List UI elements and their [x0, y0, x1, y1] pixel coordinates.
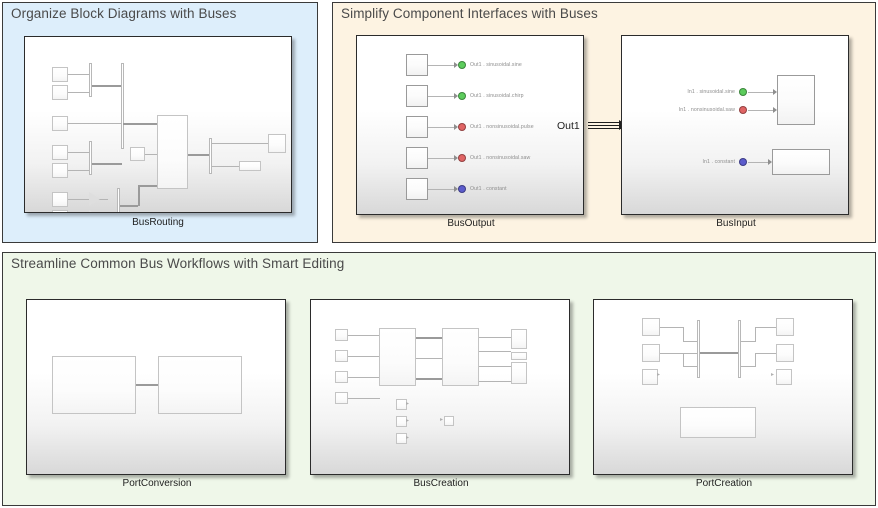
signal-port-dot-green: [458, 61, 466, 69]
signal-wire: [212, 143, 270, 144]
signal-wire: [212, 166, 240, 167]
signal-wire: [683, 366, 698, 367]
model-caption-busrouting: BusRouting: [24, 217, 292, 228]
signal-wire: [428, 158, 455, 159]
bus-selector-bar: [121, 63, 124, 149]
signal-wire: [348, 335, 380, 336]
panel-simplify-title: Simplify Component Interfaces with Buses: [341, 6, 598, 21]
signal-wire: [748, 110, 775, 111]
signal-wire: [416, 358, 443, 359]
source-subsystem-block: [52, 356, 136, 414]
signal-port-dot-red: [739, 106, 747, 114]
signal-wire: [479, 351, 511, 352]
signal-wire: [479, 337, 511, 338]
source-block: [52, 116, 68, 131]
sink-block: [776, 318, 794, 336]
signal-wire: [741, 366, 756, 367]
loose-port-block: [776, 369, 792, 385]
output-port-block: [511, 362, 527, 384]
model-caption-portconversion: PortConversion: [26, 478, 288, 489]
signal-wire: [479, 381, 511, 382]
source-block: [52, 145, 68, 160]
signal-wire: [741, 341, 756, 342]
signal-port-dot-blue: [458, 185, 466, 193]
signal-label: Out1 . sinusoidal.chirp: [470, 93, 524, 99]
sink-block: [268, 134, 286, 153]
signal-wire: [68, 199, 108, 200]
signal-wire: [68, 74, 90, 75]
source-block: [406, 85, 428, 107]
model-card-busoutput[interactable]: Out1 . sinusoidal.sine Out1 . sinusoidal…: [356, 35, 586, 230]
bus-creator-bar: [89, 141, 92, 175]
helper-block: [130, 147, 145, 161]
signal-wire-vertical: [755, 327, 756, 342]
signal-label: Out1 . sinusoidal.sine: [470, 62, 522, 68]
input-port-block: [335, 350, 348, 362]
port-caret-icon: ▸: [406, 401, 409, 407]
output-port-block: [511, 352, 527, 360]
signal-wire: [428, 127, 455, 128]
signal-wire: [748, 162, 770, 163]
gain-block: [89, 192, 100, 206]
sink-block: [239, 161, 261, 171]
signal-wire: [68, 152, 90, 153]
bus-creator-bar: [697, 320, 700, 378]
model-card-busrouting[interactable]: BusRouting: [24, 36, 292, 228]
sink-subsystem-block: [158, 356, 242, 414]
model-caption-buscreation: BusCreation: [310, 478, 572, 489]
bus-creator-bar: [89, 63, 92, 97]
signal-wire: [68, 92, 90, 93]
signal-port-dot-green: [458, 92, 466, 100]
port-caret-icon: ▸: [657, 372, 660, 378]
gain-block: [89, 210, 100, 213]
signal-wire: [348, 377, 380, 378]
bus-line: [700, 352, 739, 354]
signal-port-dot-blue: [739, 158, 747, 166]
bus-line: [188, 154, 210, 156]
bus-line-vertical: [138, 186, 140, 206]
model-canvas-businput[interactable]: In1 . sinusoidal.sine In1 . nonsinusoida…: [621, 35, 849, 215]
model-canvas-busrouting[interactable]: [24, 36, 292, 213]
source-block: [52, 192, 68, 207]
signal-wire: [479, 366, 511, 367]
bus-line: [416, 337, 443, 339]
simulink-bus-overview-page: Organize Block Diagrams with Buses: [0, 0, 878, 508]
source-block: [406, 116, 428, 138]
panel-streamline-title: Streamline Common Bus Workflows with Sma…: [11, 256, 344, 271]
subsystem-block: [379, 328, 416, 386]
bus-line: [92, 163, 122, 165]
model-caption-businput: BusInput: [621, 218, 851, 229]
input-port-block: [335, 392, 348, 404]
source-block: [406, 54, 428, 76]
model-canvas-portconversion[interactable]: [26, 299, 286, 475]
panel-organize-title: Organize Block Diagrams with Buses: [11, 6, 236, 21]
signal-wire: [68, 123, 122, 124]
bus-connector-line: [588, 125, 622, 126]
bus-line: [136, 384, 159, 386]
source-block: [642, 344, 660, 362]
signal-label: Out1 . nonsinusoidal.saw: [470, 155, 530, 161]
panel-organize-block-diagrams: Organize Block Diagrams with Buses: [2, 2, 318, 243]
bus-line: [138, 185, 158, 187]
input-port-block: [335, 371, 348, 383]
subsystem-block: [157, 115, 188, 189]
bus-creator-bar: [117, 188, 120, 213]
model-card-businput[interactable]: In1 . sinusoidal.sine In1 . nonsinusoida…: [621, 35, 851, 230]
signal-wire: [348, 398, 380, 399]
port-caret-icon: ▸: [406, 418, 409, 424]
signal-wire: [428, 96, 455, 97]
signal-port-dot-red: [458, 123, 466, 131]
source-block: [642, 318, 660, 336]
signal-label: Out1 . nonsinusoidal.pulse: [470, 124, 534, 130]
signal-wire: [428, 65, 455, 66]
source-block: [52, 163, 68, 178]
model-caption-portcreation: PortCreation: [593, 478, 855, 489]
port-caret-icon: ▸: [406, 435, 409, 441]
signal-label: In1 . sinusoidal.sine: [650, 89, 735, 95]
model-card-portcreation[interactable]: ▸: [593, 299, 855, 489]
loose-port-block: [444, 416, 454, 426]
port-caret-icon: ▸: [771, 372, 774, 378]
signal-wire: [683, 341, 698, 342]
model-card-portconversion[interactable]: PortConversion: [26, 299, 288, 489]
signal-wire: [748, 92, 775, 93]
port-caret-icon: ▸: [440, 417, 443, 423]
sink-block: [776, 344, 794, 362]
source-block: [52, 67, 68, 82]
signal-wire: [348, 356, 380, 357]
sink-block: [777, 75, 815, 125]
signal-wire-vertical: [683, 353, 684, 367]
loose-port-block: [642, 369, 658, 385]
signal-wire-vertical: [683, 327, 684, 342]
out-port-label: Out1: [557, 120, 580, 132]
model-canvas-busoutput[interactable]: Out1 . sinusoidal.sine Out1 . sinusoidal…: [356, 35, 584, 215]
source-block: [52, 85, 68, 100]
bus-selector-bar: [738, 320, 741, 378]
panel-simplify-component-interfaces: Simplify Component Interfaces with Buses…: [332, 2, 876, 243]
model-canvas-portcreation[interactable]: ▸: [593, 299, 853, 475]
source-block: [406, 178, 428, 200]
bus-line: [120, 205, 138, 207]
signal-wire: [660, 327, 684, 328]
signal-wire: [755, 353, 778, 354]
bus-connector-line: [588, 122, 622, 123]
bus-connector-line: [588, 128, 622, 129]
bus-line: [92, 85, 122, 87]
source-block: [52, 210, 68, 213]
signal-wire: [428, 189, 455, 190]
signal-wire: [68, 170, 90, 171]
signal-port-dot-green: [739, 88, 747, 96]
signal-label: In1 . constant: [666, 159, 735, 165]
sink-block: [772, 149, 830, 175]
model-canvas-buscreation[interactable]: ▸ ▸ ▸ ▸: [310, 299, 570, 475]
input-port-block: [335, 329, 348, 341]
output-port-block: [511, 329, 527, 349]
model-card-buscreation[interactable]: ▸ ▸ ▸ ▸ BusCreation: [310, 299, 572, 489]
signal-label: In1 . nonsinusoidal.saw: [640, 107, 735, 113]
panel-streamline-bus-workflows: Streamline Common Bus Workflows with Sma…: [2, 252, 876, 506]
signal-wire-vertical: [755, 353, 756, 367]
signal-label: Out1 . constant: [470, 186, 507, 192]
source-block: [406, 147, 428, 169]
bus-line: [416, 378, 443, 380]
model-caption-busoutput: BusOutput: [356, 218, 586, 229]
subsystem-block: [442, 328, 479, 386]
subsystem-block: [680, 407, 756, 438]
signal-wire: [755, 327, 778, 328]
signal-wire: [660, 353, 698, 354]
signal-port-dot-red: [458, 154, 466, 162]
bus-line: [123, 123, 157, 125]
